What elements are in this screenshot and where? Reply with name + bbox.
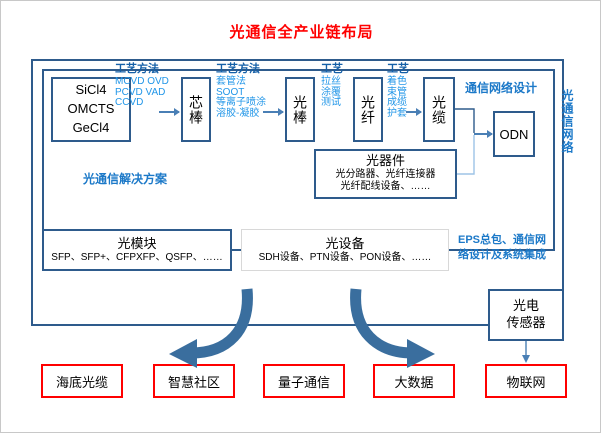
application-box-big-data: 大数据 (373, 364, 455, 398)
core-rod-label: 芯棒 (189, 95, 203, 125)
arrow-sensor-to-iot (522, 341, 530, 363)
fiber-box: 光纤 (353, 77, 383, 142)
materials-line-2: GeCl4 (73, 119, 110, 138)
materials-line-0: SiCl4 (75, 81, 106, 100)
odn-label: ODN (500, 127, 529, 142)
cable-box: 光缆 (423, 77, 455, 142)
arrow-to-odn (474, 133, 492, 135)
application-box-submarine-cable: 海底光缆 (41, 364, 123, 398)
process-3-header: 工艺 (321, 64, 343, 76)
module-line-1: SFP、SFP+、CFPXFP、QSFP、…… (51, 251, 222, 264)
eps-integration-label: EPS总包、通信网 络设计及系统集成 (458, 233, 546, 263)
materials-line-1: OMCTS (68, 100, 115, 119)
core-rod-box: 芯棒 (181, 77, 211, 142)
process-method-1: 工艺方法 MCVD OVD PCVD VAD CCVD (115, 64, 169, 109)
devices-line-2: 光纤配线设备、…… (341, 181, 431, 194)
sensor-line-1: 光电 (513, 298, 539, 315)
arrow-materials-to-rod (159, 111, 179, 113)
process-2-header: 工艺方法 (216, 64, 266, 76)
process-method-2: 工艺方法 套管法 SOOT 等离子喷涂 溶胶-凝胶 (216, 64, 266, 120)
optical-module-box: 光模块 SFP、SFP+、CFPXFP、QSFP、…… (42, 229, 232, 271)
odn-box: ODN (493, 111, 535, 157)
optical-network-vertical-label: 光通信网络 (561, 89, 573, 154)
process-1-header: 工艺方法 (115, 64, 169, 76)
devices-line-1: 光分路器、光纤连接器 (336, 169, 436, 182)
process-method-3: 工艺 拉丝 涂覆 测试 (321, 64, 343, 109)
diagram-canvas: 光通信全产业链布局 SiCl4 OMCTS GeCl4 工艺方法 MCVD OV… (0, 0, 601, 433)
arrow-fiber-to-cable (406, 111, 421, 113)
optical-devices-box: 光器件 光分路器、光纤连接器 光纤配线设备、…… (314, 149, 457, 199)
application-box-iot: 物联网 (485, 364, 567, 398)
sensor-line-2: 传感器 (506, 315, 545, 332)
fiber-label: 光纤 (361, 95, 375, 125)
eps-line-1: EPS总包、通信网 (458, 233, 546, 248)
eps-line-2: 络设计及系统集成 (458, 248, 546, 263)
application-label-1: 智慧社区 (168, 372, 220, 391)
application-label-2: 量子通信 (278, 372, 330, 391)
application-label-0: 海底光缆 (56, 372, 108, 391)
module-title: 光模块 (117, 236, 156, 252)
page-title: 光通信全产业链布局 (1, 21, 601, 42)
preform-label: 光棒 (293, 95, 307, 125)
network-design-label: 通信网络设计 (465, 79, 537, 96)
process-2-line-3: 溶胶-凝胶 (216, 109, 266, 120)
process-1-line-2: CCVD (115, 98, 169, 109)
process-3-line-2: 测试 (321, 98, 343, 109)
arrow-rod-to-preform (263, 111, 283, 113)
application-label-4: 物联网 (506, 372, 545, 391)
equipment-line-1: SDH设备、PTN设备、PON设备、…… (259, 251, 432, 264)
application-box-quantum-communication: 量子通信 (263, 364, 345, 398)
cable-label: 光缆 (432, 95, 446, 125)
process-4-header: 工艺 (387, 64, 409, 76)
solution-label: 光通信解决方案 (83, 170, 167, 187)
photoelectric-sensor-box: 光电 传感器 (488, 289, 564, 341)
devices-title: 光器件 (366, 154, 405, 169)
optical-equipment-box: 光设备 SDH设备、PTN设备、PON设备、…… (241, 229, 449, 271)
application-box-smart-community: 智慧社区 (153, 364, 235, 398)
preform-box: 光棒 (285, 77, 315, 142)
application-label-3: 大数据 (394, 372, 433, 391)
equipment-title: 光设备 (325, 236, 364, 252)
